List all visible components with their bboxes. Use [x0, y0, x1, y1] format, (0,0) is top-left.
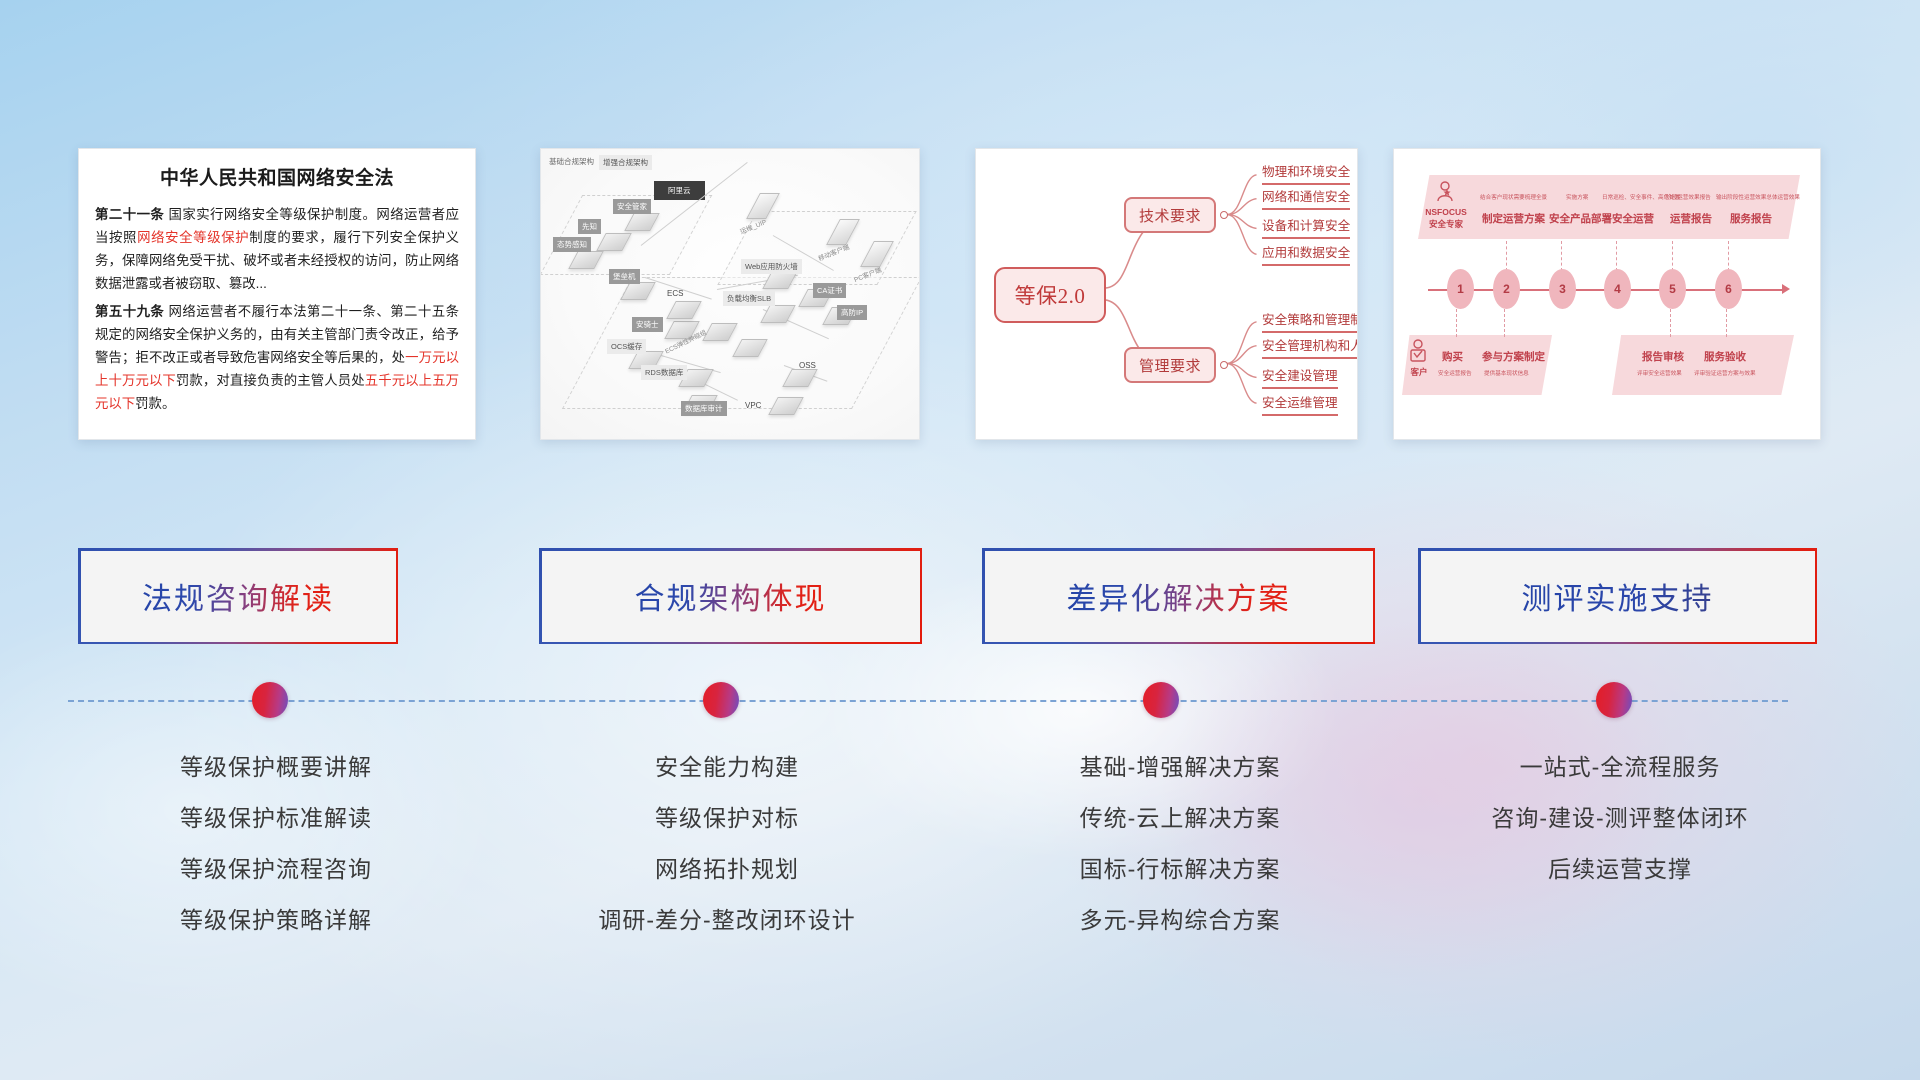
title-label: 差异化解决方案	[1067, 574, 1291, 618]
nsfocus-connector	[1561, 241, 1562, 271]
customer-caption: 评审验证运营方案与效果	[1694, 369, 1756, 377]
card-mindmap[interactable]: 等保2.0 技术要求 管理要求 物理和环境安全 网络和通信安全 设备和计算安全 …	[975, 148, 1358, 440]
mindmap-leaf: 安全管理机构和人员	[1262, 335, 1358, 359]
mindmap-leaf: 网络和通信安全	[1262, 186, 1350, 210]
detail-list-regulation-consulting: 等级保护概要讲解 等级保护标准解读 等级保护流程咨询 等级保护策略详解	[78, 742, 474, 946]
list-item: 安全能力构建	[512, 742, 942, 793]
card-nsfocus-timeline[interactable]: NSFOCUS 安全专家 结合客户现状需要梳理全景 制定运营方案 实施方案 安全…	[1393, 148, 1821, 440]
arch-node-label-vpc: VPC	[745, 401, 761, 410]
arch-node-label-ecs: ECS	[667, 289, 683, 298]
mindmap-root-node[interactable]: 等保2.0	[994, 267, 1106, 323]
arch-node-label-anquanguanjia: 安全管家	[613, 199, 651, 214]
nsfocus-step-node[interactable]: 2	[1493, 269, 1520, 309]
title-box-regulation-consulting[interactable]: 法规咨询解读	[78, 548, 398, 644]
timeline-strip	[0, 672, 1920, 732]
nsfocus-step-node[interactable]: 1	[1447, 269, 1474, 309]
expert-label: 安全运营	[1612, 211, 1654, 226]
slide-canvas: 中华人民共和国网络安全法 第二十一条 国家实行网络安全等级保护制度。网络运营者应…	[0, 0, 1920, 1080]
nsfocus-connector	[1726, 309, 1727, 337]
arch-node-label-taishiganzhi: 态势感知	[553, 237, 591, 252]
law-paragraph-21: 第二十一条 国家实行网络安全等级保护制度。网络运营者应当按照网络安全等级保护制度…	[95, 203, 459, 295]
mindmap-branch-technical[interactable]: 技术要求	[1124, 197, 1216, 233]
title-label: 合规架构体现	[635, 574, 827, 618]
arch-node-label-anqishi: 安骑士	[632, 317, 663, 332]
nsfocus-connector	[1728, 241, 1729, 271]
list-item: 等级保护流程咨询	[78, 844, 474, 895]
expert-role-line2: 安全专家	[1418, 219, 1474, 230]
list-item: 等级保护标准解读	[78, 793, 474, 844]
customer-label: 购买	[1442, 349, 1463, 364]
list-item: 基础-增强解决方案	[980, 742, 1380, 793]
detail-list-assessment-support: 一站式-全流程服务 咨询-建设-测评整体闭环 后续运营支撑	[1410, 742, 1830, 895]
expert-role-line1: NSFOCUS	[1418, 207, 1474, 218]
customer-label: 报告审核	[1642, 349, 1684, 364]
customer-label: 参与方案制定	[1482, 349, 1545, 364]
nsfocus-canvas: NSFOCUS 安全专家 结合客户现状需要梳理全景 制定运营方案 实施方案 安全…	[1394, 149, 1820, 439]
nsfocus-expert-band	[1418, 175, 1800, 239]
nsfocus-connector	[1506, 241, 1507, 271]
list-item: 等级保护概要讲解	[78, 742, 474, 793]
list-item: 传统-云上解决方案	[980, 793, 1380, 844]
expert-label: 安全产品部署	[1549, 211, 1612, 226]
law-article-number: 第二十一条	[95, 207, 164, 222]
detail-list-differentiated-solution: 基础-增强解决方案 传统-云上解决方案 国标-行标解决方案 多元-异构综合方案	[980, 742, 1380, 946]
expert-caption: 结合客户现状需要梳理全景	[1480, 193, 1547, 201]
image-card-row: 中华人民共和国网络安全法 第二十一条 国家实行网络安全等级保护制度。网络运营者应…	[0, 148, 1920, 448]
law-title: 中华人民共和国网络安全法	[95, 163, 459, 190]
law-paragraph-59: 第五十九条 网络运营者不履行本法第二十一条、第二十五条规定的网络安全保护义务的，…	[95, 300, 459, 415]
list-item: 等级保护策略详解	[78, 895, 474, 946]
expert-caption: 输出阶段性运营效果总体运营效果	[1716, 193, 1800, 201]
nsfocus-connector	[1504, 309, 1505, 337]
law-run-text: 罚款，对直接负责的主管人员处	[176, 373, 365, 388]
list-item: 网络拓扑规划	[512, 844, 942, 895]
mindmap-canvas: 等保2.0 技术要求 管理要求 物理和环境安全 网络和通信安全 设备和计算安全 …	[976, 149, 1357, 439]
arch-tab-enhanced[interactable]: 增强合规架构	[599, 155, 652, 170]
expert-person-icon	[1434, 181, 1456, 205]
card-architecture-diagram[interactable]: 基础合规架构 增强合规架构 阿里云 安全管家 先知 态势感	[540, 148, 920, 440]
title-label: 测评实施支持	[1522, 574, 1714, 618]
mindmap-branch-management[interactable]: 管理要求	[1124, 347, 1216, 383]
expert-caption: 实施方案	[1566, 193, 1588, 201]
mindmap-leaf: 应用和数据安全	[1262, 242, 1350, 266]
arch-node-label-xianzhi: 先知	[578, 219, 601, 234]
detail-list-row: 等级保护概要讲解 等级保护标准解读 等级保护流程咨询 等级保护策略详解 安全能力…	[0, 742, 1920, 972]
mindmap-leaf: 安全运维管理	[1262, 392, 1338, 416]
mindmap-collapse-icon[interactable]	[1220, 361, 1228, 369]
arch-node-label-ocs: OCS缓存	[607, 339, 646, 354]
mindmap-leaf: 安全策略和管理制度	[1262, 309, 1358, 333]
card-law-text[interactable]: 中华人民共和国网络安全法 第二十一条 国家实行网络安全等级保护制度。网络运营者应…	[78, 148, 476, 440]
customer-caption: 安全运营报告	[1438, 369, 1472, 377]
timeline-dashed-line	[68, 700, 1788, 702]
law-run-highlight: 网络安全等级保护	[137, 230, 249, 245]
title-box-differentiated-solution[interactable]: 差异化解决方案	[982, 548, 1375, 644]
nsfocus-customer-band-right	[1612, 335, 1794, 395]
arch-node-label-waf: Web应用防火墙	[741, 259, 802, 274]
expert-label: 服务报告	[1730, 211, 1772, 226]
mindmap-leaf: 物理和环境安全	[1262, 161, 1350, 185]
list-item: 等级保护对标	[512, 793, 942, 844]
arch-node-label-rds: RDS数据库	[641, 365, 687, 380]
timeline-dot[interactable]	[1143, 682, 1179, 718]
arch-node-label-dbaudit: 数据库审计	[681, 401, 727, 416]
timeline-dot[interactable]	[1596, 682, 1632, 718]
nsfocus-axis-arrow	[1782, 284, 1790, 294]
list-item: 后续运营支撑	[1410, 844, 1830, 895]
arch-node-label-ca: CA证书	[813, 283, 846, 298]
nsfocus-step-node[interactable]: 3	[1549, 269, 1576, 309]
arch-node-label-gaofangip: 高防IP	[837, 305, 867, 320]
title-box-assessment-support[interactable]: 测评实施支持	[1418, 548, 1817, 644]
arch-cloud-label: 阿里云	[654, 181, 705, 200]
nsfocus-connector	[1670, 309, 1671, 337]
arch-node-label-oss: OSS	[799, 361, 816, 370]
architecture-canvas: 基础合规架构 增强合规架构 阿里云 安全管家 先知 态势感	[541, 149, 919, 439]
title-box-compliance-architecture[interactable]: 合规架构体现	[539, 548, 922, 644]
law-article-number: 第五十九条	[95, 304, 164, 319]
customer-label: 服务验收	[1704, 349, 1746, 364]
nsfocus-connector	[1672, 241, 1673, 271]
customer-caption: 评审安全运营效果	[1637, 369, 1682, 377]
customer-caption: 提供基本现状信息	[1484, 369, 1529, 377]
nsfocus-step-node[interactable]: 5	[1659, 269, 1686, 309]
nsfocus-connector	[1616, 241, 1617, 271]
nsfocus-step-node[interactable]: 4	[1604, 269, 1631, 309]
list-item: 一站式-全流程服务	[1410, 742, 1830, 793]
nsfocus-step-node[interactable]: 6	[1715, 269, 1742, 309]
mindmap-leaf: 安全建设管理	[1262, 365, 1338, 389]
arch-node-label-slb: 负载均衡SLB	[723, 291, 775, 306]
detail-list-compliance-architecture: 安全能力构建 等级保护对标 网络拓扑规划 调研-差分-整改闭环设计	[512, 742, 942, 946]
law-run-text: 罚款。	[135, 396, 175, 411]
expert-caption: 阶段运营效果报告	[1666, 193, 1711, 201]
customer-person-icon	[1408, 339, 1428, 365]
timeline-dot[interactable]	[703, 682, 739, 718]
customer-role-label: 客户	[1402, 367, 1436, 378]
arch-node-label-baoleiji: 堡垒机	[609, 269, 640, 284]
title-box-row: 法规咨询解读 合规架构体现 差异化解决方案 测评实施支持	[0, 548, 1920, 644]
list-item: 咨询-建设-测评整体闭环	[1410, 793, 1830, 844]
expert-label: 运营报告	[1670, 211, 1712, 226]
mindmap-collapse-icon[interactable]	[1220, 211, 1228, 219]
nsfocus-connector	[1456, 309, 1457, 337]
list-item: 调研-差分-整改闭环设计	[512, 895, 942, 946]
timeline-dot[interactable]	[252, 682, 288, 718]
title-label: 法规咨询解读	[142, 574, 334, 618]
arch-tab-basic[interactable]: 基础合规架构	[549, 156, 594, 167]
list-item: 国标-行标解决方案	[980, 844, 1380, 895]
list-item: 多元-异构综合方案	[980, 895, 1380, 946]
mindmap-leaf: 设备和计算安全	[1262, 215, 1350, 239]
expert-label: 制定运营方案	[1482, 211, 1545, 226]
